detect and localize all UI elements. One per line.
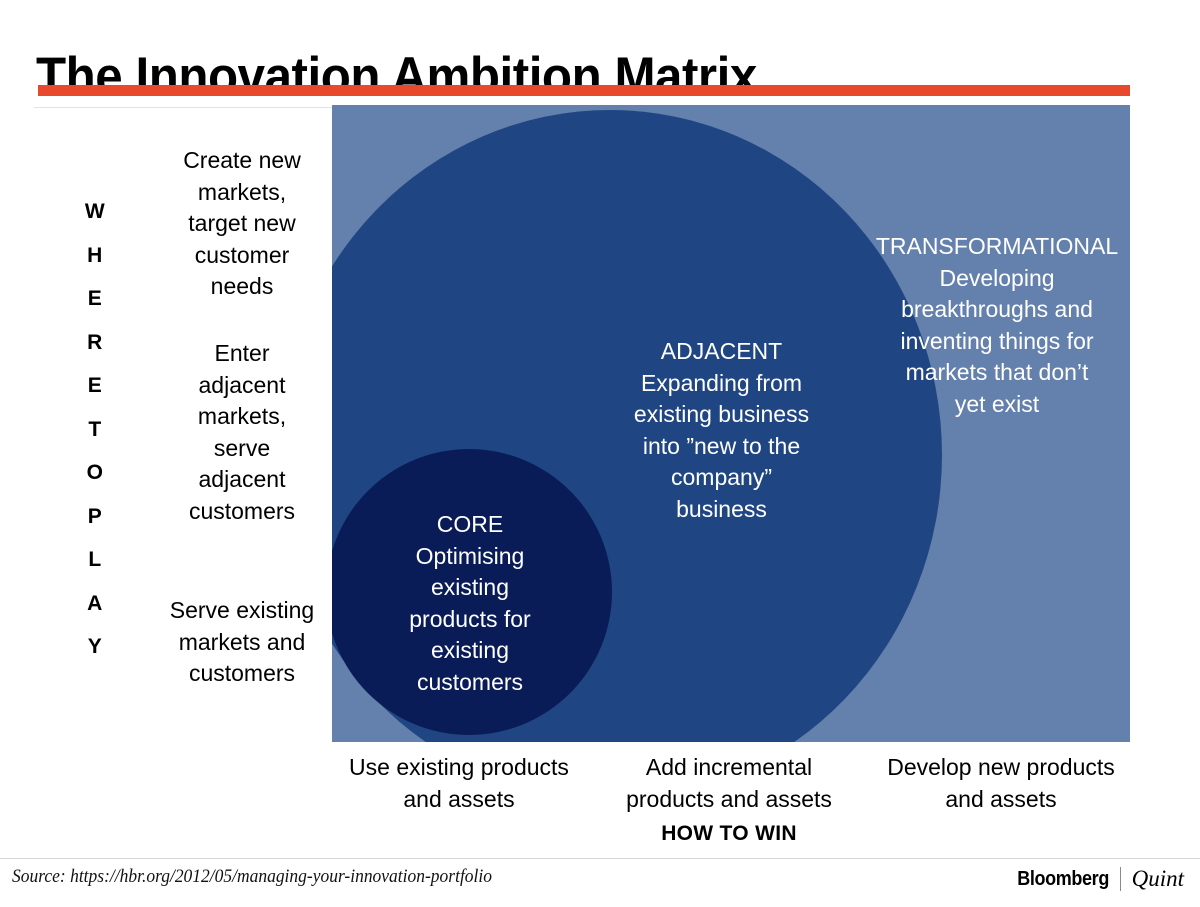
brand-logo: Bloomberg Quint: [1007, 866, 1184, 892]
label-adjacent-line: into ”new to the: [614, 431, 829, 463]
label-transformational-line: breakthroughs and: [867, 294, 1127, 326]
label-transformational-line: yet exist: [867, 389, 1127, 421]
axis-y-tier-line: target new: [158, 208, 326, 240]
axis-y-title-letter: H: [72, 234, 118, 278]
label-transformational: TRANSFORMATIONAL Developing breakthrough…: [867, 231, 1127, 420]
axis-y-title-letter: Y: [72, 625, 118, 669]
axis-y-tier-line: Enter: [158, 338, 326, 370]
axis-y-title-letter: T: [72, 408, 118, 452]
label-core-line: Optimising: [350, 541, 590, 573]
axis-y-title-letter: E: [72, 277, 118, 321]
label-adjacent-line: existing business: [614, 399, 829, 431]
axis-y-tier-line: Create new: [158, 145, 326, 177]
hairline-divider: [34, 107, 334, 108]
axis-y-tier-line: needs: [158, 271, 326, 303]
axis-x-title: HOW TO WIN: [602, 822, 856, 846]
brand-quint-wordmark: Quint: [1132, 866, 1184, 892]
axis-x-tier-one: Use existing products and assets: [332, 752, 586, 815]
axis-y-tier-line: customer: [158, 240, 326, 272]
label-transformational-line: inventing things for: [867, 326, 1127, 358]
axis-x-tier-line: and assets: [332, 784, 586, 816]
label-transformational-heading: TRANSFORMATIONAL: [867, 231, 1127, 263]
axis-y-tier-line: adjacent: [158, 370, 326, 402]
label-adjacent-line: company”: [614, 462, 829, 494]
axis-x-tier-three: Develop new products and assets: [872, 752, 1130, 815]
axis-y-tier-line: markets,: [158, 401, 326, 433]
axis-y-title-letter: P: [72, 495, 118, 539]
label-core-line: products for: [350, 604, 590, 636]
axis-y-title-letter: W: [72, 190, 118, 234]
axis-y-title-letter: O: [72, 451, 118, 495]
label-adjacent-line: Expanding from: [614, 368, 829, 400]
brand-separator: [1120, 867, 1121, 891]
label-transformational-line: Developing: [867, 263, 1127, 295]
axis-y-tier-line: serve: [158, 433, 326, 465]
axis-x-tier-line: Develop new products: [872, 752, 1130, 784]
label-core-line: customers: [350, 667, 590, 699]
label-adjacent-heading: ADJACENT: [614, 336, 829, 368]
axis-y-tier-high: Create new markets, target new customer …: [158, 145, 326, 303]
label-adjacent-line: business: [614, 494, 829, 526]
axis-y-tier-line: markets and: [158, 627, 326, 659]
label-core-line: existing: [350, 635, 590, 667]
axis-y-tier-line: adjacent: [158, 464, 326, 496]
axis-x-tier-two: Add incremental products and assets: [602, 752, 856, 815]
accent-rule: [38, 85, 1130, 96]
axis-x-tier-line: products and assets: [602, 784, 856, 816]
label-core-heading: CORE: [350, 509, 590, 541]
axis-y-tier-line: Serve existing: [158, 595, 326, 627]
axis-x-tier-line: Add incremental: [602, 752, 856, 784]
axis-y-title-letter: R: [72, 321, 118, 365]
axis-y-tier-line: customers: [158, 658, 326, 690]
axis-x-tier-line: Use existing products: [332, 752, 586, 784]
footer-divider: [0, 858, 1200, 859]
label-core: CORE Optimising existing products for ex…: [350, 509, 590, 698]
axis-y-title-letter: A: [72, 582, 118, 626]
source-note: Source: https://hbr.org/2012/05/managing…: [12, 866, 492, 888]
axis-x-tier-line: and assets: [872, 784, 1130, 816]
axis-y-title-letter: L: [72, 538, 118, 582]
axis-y-tier-line: markets,: [158, 177, 326, 209]
brand-bloomberg-wordmark: Bloomberg: [1017, 868, 1109, 891]
axis-y-title-letter: E: [72, 364, 118, 408]
axis-y-tier-middle: Enter adjacent markets, serve adjacent c…: [158, 338, 326, 527]
matrix-plot-area: TRANSFORMATIONAL Developing breakthrough…: [332, 105, 1130, 742]
label-transformational-line: markets that don’t: [867, 357, 1127, 389]
label-adjacent: ADJACENT Expanding from existing busines…: [614, 336, 829, 525]
page-title: The Innovation Ambition Matrix: [36, 48, 757, 106]
label-core-line: existing: [350, 572, 590, 604]
axis-y-tier-line: customers: [158, 496, 326, 528]
axis-y-title: W H E R E T O P L A Y: [72, 190, 118, 669]
axis-y-tier-low: Serve existing markets and customers: [158, 595, 326, 690]
